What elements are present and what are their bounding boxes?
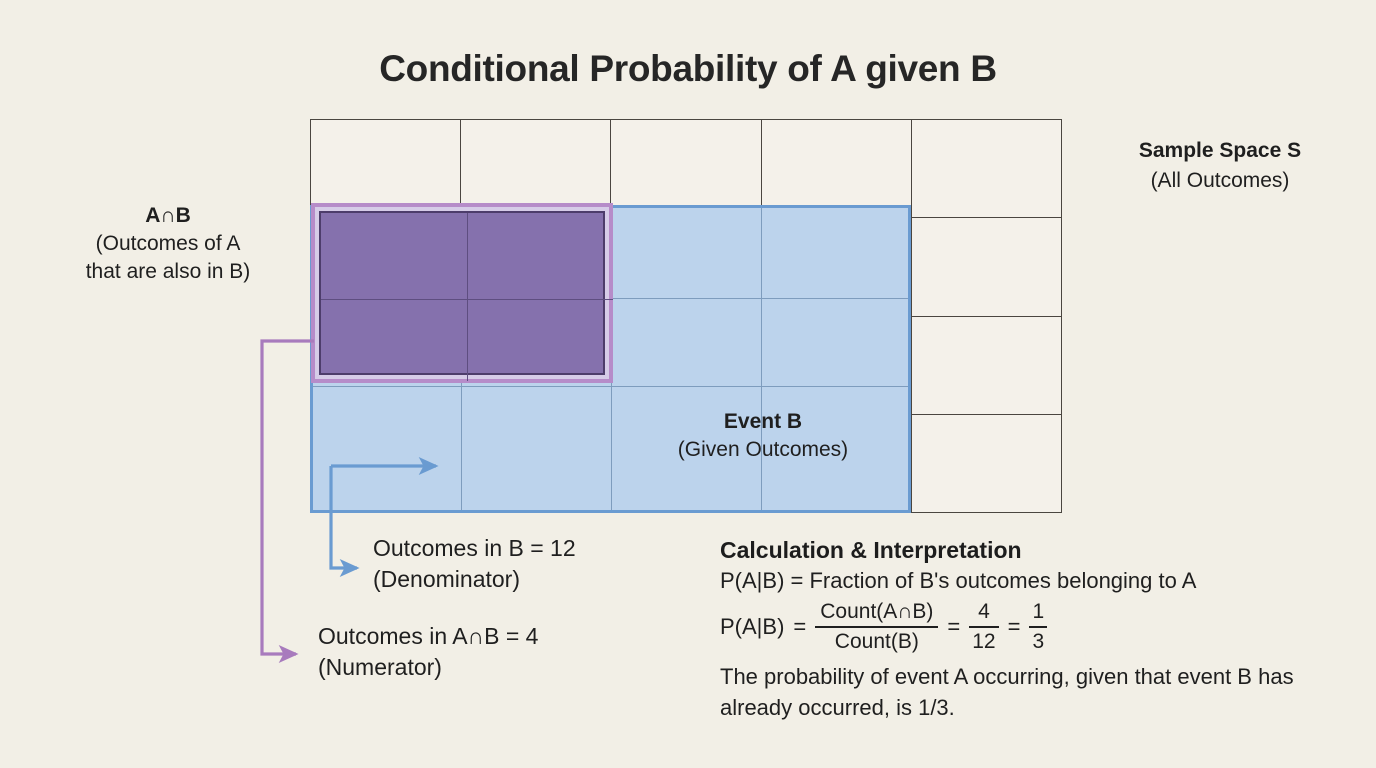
event-b-gridline	[313, 386, 908, 387]
equation-lhs: P(A|B)	[720, 614, 784, 640]
fraction-result-numerator: 1	[1029, 600, 1047, 624]
fraction-bar	[1029, 626, 1047, 628]
numerator-line2: (Numerator)	[318, 654, 442, 680]
a-intersect-b-region	[311, 203, 613, 383]
calculation-heading: Calculation & Interpretation	[720, 535, 1360, 565]
sample-space-label-sub: (All Outcomes)	[1151, 169, 1290, 192]
equation-equals-3: =	[1008, 614, 1021, 640]
page-title: Conditional Probability of A given B	[0, 48, 1376, 90]
fraction-numeric: 4 12	[969, 600, 998, 653]
numerator-callout: Outcomes in A∩B = 4 (Numerator)	[318, 621, 538, 683]
calculation-interpretation: The probability of event A occurring, gi…	[720, 661, 1340, 723]
intersection-gridline	[467, 213, 468, 381]
event-b-label-title: Event B	[613, 408, 913, 436]
a-intersect-b-label-line1: (Outcomes of A	[96, 232, 241, 255]
calculation-equation: P(A|B) = Count(A∩B) Count(B) = 4 12 = 1 …	[720, 600, 1360, 653]
grid-cell	[911, 218, 1061, 316]
grid-cell	[911, 120, 1061, 218]
a-intersect-b-label-title: A∩B	[30, 202, 306, 230]
fraction-numeric-numerator: 4	[975, 600, 993, 624]
diagram-canvas: Conditional Probability of A given B	[0, 0, 1376, 768]
a-intersect-b-label: A∩B (Outcomes of A that are also in B)	[30, 202, 306, 286]
purple-connector-path	[262, 341, 314, 654]
equation-equals-1: =	[793, 614, 806, 640]
calculation-definition: P(A|B) = Fraction of B's outcomes belong…	[720, 565, 1360, 597]
fraction-result: 1 3	[1029, 600, 1047, 653]
fraction-numeric-denominator: 12	[969, 630, 998, 654]
fraction-count: Count(A∩B) Count(B)	[815, 600, 938, 653]
event-b-gridline	[761, 208, 762, 510]
sample-space-grid: Event B (Given Outcomes)	[310, 119, 1062, 513]
equation-equals-2: =	[947, 614, 960, 640]
fraction-result-denominator: 3	[1029, 630, 1047, 654]
sample-space-label-title: Sample Space S	[1070, 136, 1370, 166]
event-b-label: Event B (Given Outcomes)	[613, 408, 913, 464]
denominator-callout: Outcomes in B = 12 (Denominator)	[373, 533, 576, 595]
fraction-count-denominator: Count(B)	[830, 630, 924, 654]
grid-cell	[611, 120, 761, 218]
denominator-line2: (Denominator)	[373, 566, 520, 592]
intersection-gridline	[321, 299, 613, 300]
grid-cell	[911, 414, 1061, 512]
grid-cell	[761, 120, 911, 218]
denominator-line1: Outcomes in B = 12	[373, 535, 576, 561]
fraction-count-numerator: Count(A∩B)	[815, 600, 938, 624]
event-b-label-sub: (Given Outcomes)	[678, 438, 848, 461]
fraction-bar	[969, 626, 998, 628]
a-intersect-b-label-line2: that are also in B)	[86, 260, 251, 283]
numerator-line1: Outcomes in A∩B = 4	[318, 623, 538, 649]
fraction-bar	[815, 626, 938, 628]
sample-space-label: Sample Space S (All Outcomes)	[1070, 136, 1370, 196]
calculation-panel: Calculation & Interpretation P(A|B) = Fr…	[720, 535, 1360, 723]
a-intersect-b-fill	[319, 211, 605, 375]
grid-cell	[911, 316, 1061, 414]
